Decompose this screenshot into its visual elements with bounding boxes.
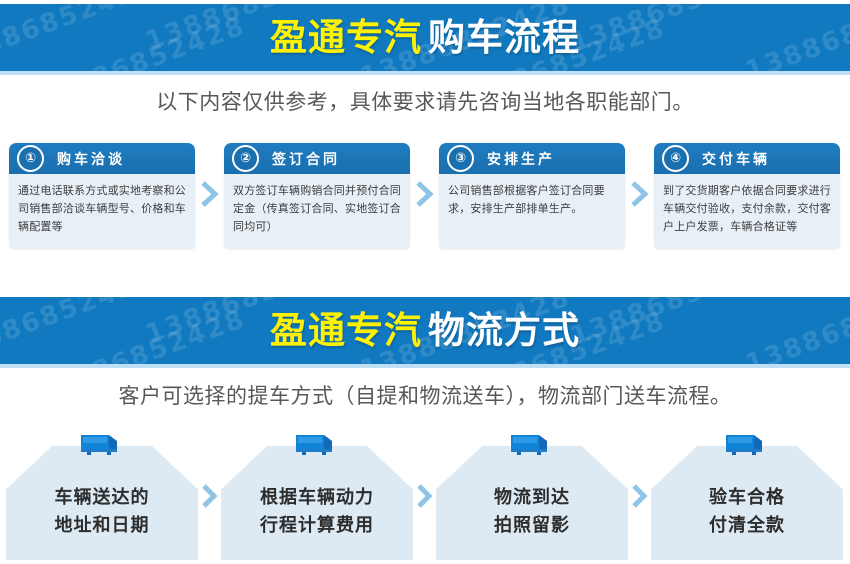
step-header: ③ 安排生产 xyxy=(439,143,625,174)
logistics-label: 物流到达 拍照留影 xyxy=(494,484,570,540)
truck-icon xyxy=(294,432,340,458)
banner-subject: 物流方式 xyxy=(428,309,580,352)
step-header: ① 购车洽谈 xyxy=(9,143,195,174)
step-body-text: 通过电话联系方式或实地考察和公司销售部洽谈车辆型号、价格和车辆配置等 xyxy=(9,174,195,246)
chevron-right-icon xyxy=(413,432,436,560)
brand-name: 盈通专汽 xyxy=(270,309,422,352)
truck-icon xyxy=(509,432,555,458)
brand-name: 盈通专汽 xyxy=(270,16,422,59)
logistics-shape: 根据车辆动力 行程计算费用 xyxy=(221,446,413,560)
step-body-text: 双方签订车辆购销合同并预付合同定金（传真签订合同、实地签订合同均可） xyxy=(224,174,410,246)
step-number-badge: ① xyxy=(17,145,44,172)
chevron-right-icon xyxy=(195,143,224,207)
truck-icon xyxy=(724,432,770,458)
logistics-banner-title: 盈通专汽物流方式 xyxy=(270,312,580,349)
logistics-item[interactable]: 车辆送达的 地址和日期 xyxy=(6,432,198,560)
infographic-page: 13886852428 13886852428 13886852428 1388… xyxy=(0,0,850,564)
logistics-subtitle: 客户可选择的提车方式（自提和物流送车），物流部门送车流程。 xyxy=(0,380,850,410)
logistics-label-line2: 地址和日期 xyxy=(55,512,150,540)
step-number-badge: ④ xyxy=(662,145,689,172)
step-body-text: 到了交货期客户依据合同要求进行车辆交付验收，支付余款，交付客户上户发票，车辆合格… xyxy=(654,174,840,246)
logistics-item[interactable]: 根据车辆动力 行程计算费用 xyxy=(221,432,413,560)
logistics-label-line2: 付清全款 xyxy=(709,512,785,540)
step-header: ④ 交付车辆 xyxy=(654,143,840,174)
step-card[interactable]: ① 购车洽谈 通过电话联系方式或实地考察和公司销售部洽谈车辆型号、价格和车辆配置… xyxy=(9,143,195,249)
logistics-label-line1: 验车合格 xyxy=(709,484,785,512)
logistics-shape: 物流到达 拍照留影 xyxy=(436,446,628,560)
logistics-label-line1: 根据车辆动力 xyxy=(260,484,374,512)
step-card[interactable]: ③ 安排生产 公司销售部根据客户签订合同要求，安排生产部排单生产。 xyxy=(439,143,625,249)
logistics-banner: 13886852428 13886852428 13886852428 1388… xyxy=(0,297,850,368)
purchase-banner: 13886852428 13886852428 13886852428 1388… xyxy=(0,4,850,75)
step-card[interactable]: ④ 交付车辆 到了交货期客户依据合同要求进行车辆交付验收，支付余款，交付客户上户… xyxy=(654,143,840,249)
logistics-label-line2: 行程计算费用 xyxy=(260,512,374,540)
step-card[interactable]: ② 签订合同 双方签订车辆购销合同并预付合同定金（传真签订合同、实地签订合同均可… xyxy=(224,143,410,249)
purchase-steps-row: ① 购车洽谈 通过电话联系方式或实地考察和公司销售部洽谈车辆型号、价格和车辆配置… xyxy=(9,143,841,253)
logistics-label: 验车合格 付清全款 xyxy=(709,484,785,540)
purchase-subtitle: 以下内容仅供参考，具体要求请先咨询当地各职能部门。 xyxy=(0,86,850,116)
logistics-label-line2: 拍照留影 xyxy=(494,512,570,540)
logistics-shape: 验车合格 付清全款 xyxy=(651,446,843,560)
step-number-badge: ② xyxy=(232,145,259,172)
step-title: 购车洽谈 xyxy=(57,149,125,169)
chevron-right-icon xyxy=(410,143,439,207)
step-title: 交付车辆 xyxy=(702,149,770,169)
logistics-item[interactable]: 物流到达 拍照留影 xyxy=(436,432,628,560)
logistics-label-line1: 车辆送达的 xyxy=(55,484,150,512)
logistics-steps-row: 车辆送达的 地址和日期 根据车辆动力 行程计算费用 xyxy=(6,432,844,560)
chevron-right-icon xyxy=(625,143,654,207)
logistics-shape: 车辆送达的 地址和日期 xyxy=(6,446,198,560)
step-title: 安排生产 xyxy=(487,149,555,169)
chevron-right-icon xyxy=(628,432,651,560)
logistics-label: 车辆送达的 地址和日期 xyxy=(55,484,150,540)
step-body-text: 公司销售部根据客户签订合同要求，安排生产部排单生产。 xyxy=(439,174,625,228)
logistics-label: 根据车辆动力 行程计算费用 xyxy=(260,484,374,540)
step-number-badge: ③ xyxy=(447,145,474,172)
banner-subject: 购车流程 xyxy=(428,16,580,59)
chevron-right-icon xyxy=(198,432,221,560)
purchase-banner-title: 盈通专汽购车流程 xyxy=(270,19,580,56)
truck-icon xyxy=(79,432,125,458)
step-header: ② 签订合同 xyxy=(224,143,410,174)
step-title: 签订合同 xyxy=(272,149,340,169)
logistics-label-line1: 物流到达 xyxy=(494,484,570,512)
logistics-item[interactable]: 验车合格 付清全款 xyxy=(651,432,843,560)
